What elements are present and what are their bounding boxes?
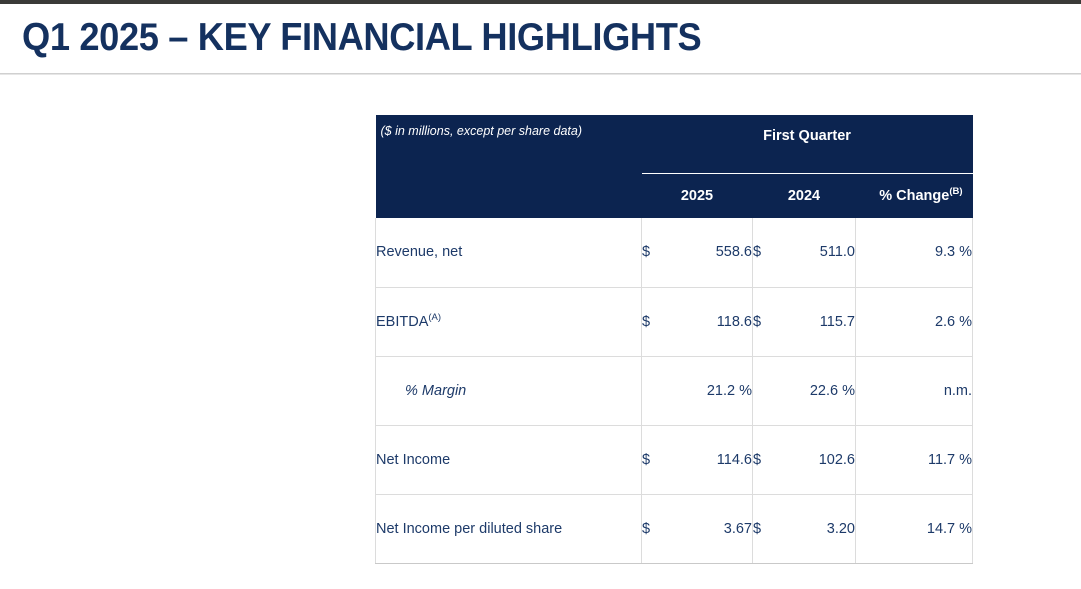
column-header-2025: 2025 bbox=[642, 177, 753, 218]
value-change: 11.7 % bbox=[856, 425, 973, 494]
currency-symbol-2024: $ bbox=[753, 218, 786, 287]
row-label-text: Revenue, net bbox=[376, 244, 462, 260]
currency-symbol-2024: $ bbox=[753, 287, 786, 356]
value-2024: 115.7 bbox=[786, 287, 856, 356]
currency-symbol-2024: $ bbox=[753, 494, 786, 563]
header-underline bbox=[642, 172, 973, 177]
units-note: ($ in millions, except per share data) bbox=[376, 115, 642, 172]
table-head: ($ in millions, except per share data) F… bbox=[376, 115, 973, 218]
row-label: % Margin bbox=[376, 356, 642, 425]
title-divider bbox=[0, 73, 1081, 75]
table-row: EBITDA(A) $ 118.6 $ 115.7 2.6 % bbox=[376, 287, 973, 356]
value-change: 9.3 % bbox=[856, 218, 973, 287]
value-2025: 558.6 bbox=[678, 218, 753, 287]
column-header-change-footnote: (B) bbox=[949, 186, 962, 197]
currency-symbol-2025: $ bbox=[642, 494, 678, 563]
value-change: 14.7 % bbox=[856, 494, 973, 563]
value-2024: 511.0 bbox=[786, 218, 856, 287]
currency-symbol-2025 bbox=[642, 356, 678, 425]
top-edge-strip bbox=[0, 0, 1081, 4]
currency-symbol-2024 bbox=[753, 356, 786, 425]
table-row: Net Income $ 114.6 $ 102.6 11.7 % bbox=[376, 425, 973, 494]
row-label: Net Income per diluted share bbox=[376, 494, 642, 563]
row-label-text: % Margin bbox=[405, 383, 466, 399]
column-header-change-label: % Change bbox=[879, 188, 949, 204]
value-2025: 3.67 bbox=[678, 494, 753, 563]
value-2024: 102.6 bbox=[786, 425, 856, 494]
value-change: 2.6 % bbox=[856, 287, 973, 356]
header-row-columns: 2025 2024 % Change(B) bbox=[376, 177, 973, 218]
table-row: % Margin 21.2 % 22.6 % n.m. bbox=[376, 356, 973, 425]
row-label: Revenue, net bbox=[376, 218, 642, 287]
row-label-text: Net Income per diluted share bbox=[376, 521, 562, 537]
currency-symbol-2025: $ bbox=[642, 287, 678, 356]
header-label-spacer bbox=[376, 177, 642, 218]
column-header-change: % Change(B) bbox=[856, 177, 973, 218]
row-label: Net Income bbox=[376, 425, 642, 494]
value-2025: 118.6 bbox=[678, 287, 753, 356]
highlights-table: ($ in millions, except per share data) F… bbox=[375, 115, 973, 564]
value-2025: 21.2 % bbox=[678, 356, 753, 425]
column-header-2024: 2024 bbox=[753, 177, 856, 218]
row-label-footnote: (A) bbox=[428, 312, 441, 323]
value-2024: 3.20 bbox=[786, 494, 856, 563]
table-row: Revenue, net $ 558.6 $ 511.0 9.3 % bbox=[376, 218, 973, 287]
page-title: Q1 2025 – KEY FINANCIAL HIGHLIGHTS bbox=[22, 18, 952, 59]
table-body: Revenue, net $ 558.6 $ 511.0 9.3 % EBITD… bbox=[376, 218, 973, 563]
value-2024: 22.6 % bbox=[786, 356, 856, 425]
slide-canvas: Q1 2025 – KEY FINANCIAL HIGHLIGHTS ($ in… bbox=[0, 0, 1081, 589]
group-header-first-quarter: First Quarter bbox=[642, 115, 973, 172]
row-label-text: Net Income bbox=[376, 452, 450, 468]
financial-highlights-table: ($ in millions, except per share data) F… bbox=[375, 115, 972, 564]
header-row-group: ($ in millions, except per share data) F… bbox=[376, 115, 973, 172]
row-label-text: EBITDA bbox=[376, 314, 428, 330]
row-label: EBITDA(A) bbox=[376, 287, 642, 356]
table-row: Net Income per diluted share $ 3.67 $ 3.… bbox=[376, 494, 973, 563]
value-2025: 114.6 bbox=[678, 425, 753, 494]
currency-symbol-2025: $ bbox=[642, 425, 678, 494]
currency-symbol-2024: $ bbox=[753, 425, 786, 494]
value-change: n.m. bbox=[856, 356, 973, 425]
currency-symbol-2025: $ bbox=[642, 218, 678, 287]
